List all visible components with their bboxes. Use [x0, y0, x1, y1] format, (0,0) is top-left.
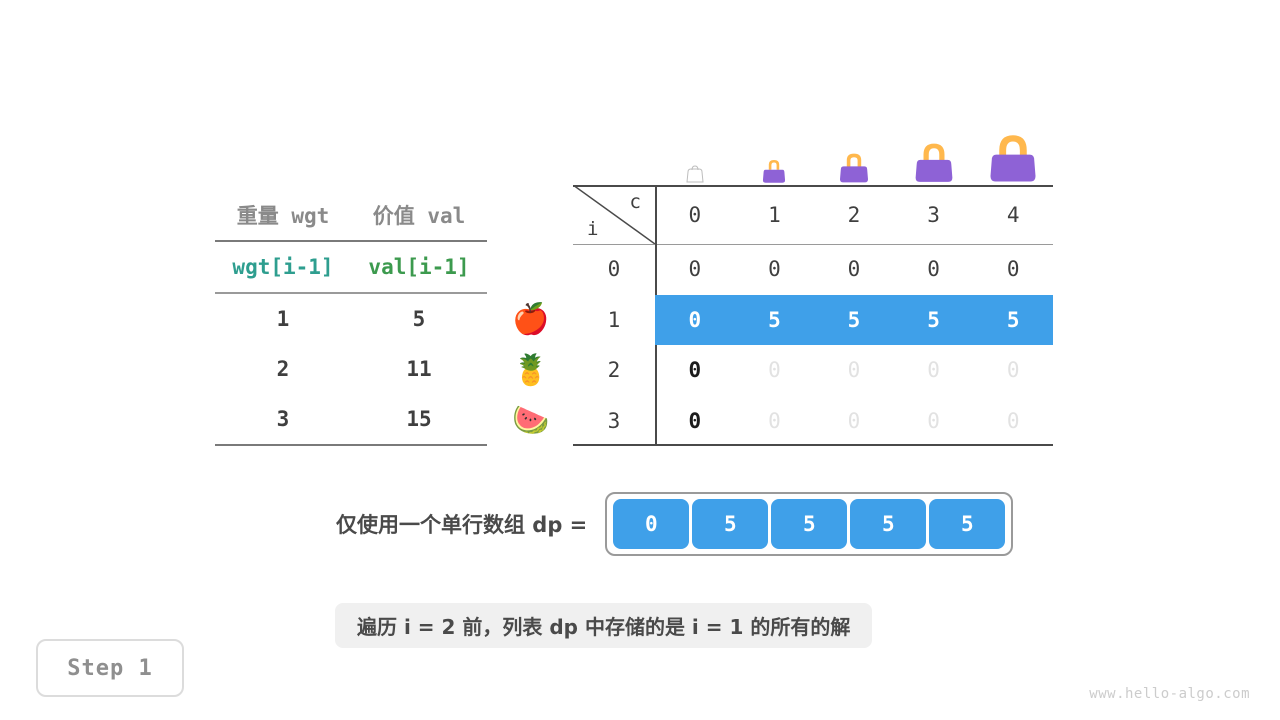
- matrix-body: 0 0 0 0 0 0 5 5 5 5 0 0 0 0 0 0 0 0 0 0: [655, 244, 1053, 446]
- item-val-1: 5: [351, 293, 487, 344]
- matrix-cell-0-1: 0: [735, 244, 815, 295]
- matrix-cell-0-4: 0: [973, 244, 1053, 295]
- table-row: 2 11: [215, 344, 487, 394]
- matrix-corner-cell: c i: [573, 185, 655, 244]
- table-row-highlighted: 0 5 5 5 5: [655, 295, 1053, 346]
- matrix-cell-1-2: 5: [814, 295, 894, 346]
- matrix-cell-1-0: 0: [655, 295, 735, 346]
- matrix-col-header-4: 4: [973, 185, 1053, 244]
- diagonal-divider-icon: [573, 185, 655, 244]
- item-table-head: 重量 wgt 价值 val: [215, 190, 487, 241]
- bag-icon-capacity-1: [759, 158, 789, 184]
- caption-text: 遍历 i = 2 前，列表 dp 中存储的是 i = 1 的所有的解: [335, 603, 872, 648]
- bag-cell-1: [735, 122, 815, 184]
- bag-capacity-icon-row: [655, 122, 1053, 184]
- matrix-corner-label-i: i: [587, 218, 598, 240]
- table-row: 0 0 0 0 0: [655, 244, 1053, 295]
- matrix-cell-0-3: 0: [894, 244, 974, 295]
- item-val-2: 11: [351, 344, 487, 394]
- matrix-cell-2-4: 0: [973, 345, 1053, 396]
- item-table-header-row: 重量 wgt 价值 val: [215, 190, 487, 241]
- matrix-col-header-3: 3: [894, 185, 974, 244]
- step-badge: Step 1: [36, 639, 184, 697]
- matrix-cell-3-3: 0: [894, 396, 974, 447]
- dp-array-container: 0 5 5 5 5: [605, 492, 1013, 556]
- fruit-slot-2: 🍍: [508, 346, 554, 397]
- item-wgt-2: 2: [215, 344, 351, 394]
- item-table-var-wgt: wgt[i-1]: [215, 241, 351, 293]
- bag-cell-2: [814, 122, 894, 184]
- matrix-col-header-0: 0: [655, 185, 735, 244]
- item-fruit-column: 🍎 🍍 🍉: [508, 295, 554, 447]
- apple-emoji: 🍎: [512, 305, 549, 335]
- bag-cell-3: [894, 122, 974, 184]
- dp-array-cell-3: 5: [850, 499, 926, 549]
- item-table-grid: 重量 wgt 价值 val wgt[i-1] val[i-1] 1 5 2 11…: [215, 190, 487, 446]
- matrix-column-header-row: 0 1 2 3 4: [655, 185, 1053, 244]
- item-table-header-wgt: 重量 wgt: [215, 190, 351, 241]
- fruit-slot-3: 🍉: [508, 396, 554, 447]
- bag-icon-capacity-2: [835, 152, 873, 184]
- matrix-row-label-1: 1: [573, 295, 655, 346]
- item-table-variable-row: wgt[i-1] val[i-1]: [215, 241, 487, 293]
- matrix-cell-3-2: 0: [814, 396, 894, 447]
- item-wgt-3: 3: [215, 394, 351, 445]
- bag-cell-0: [655, 122, 735, 184]
- bag-cell-4: [973, 122, 1053, 184]
- matrix-cell-3-1: 0: [735, 396, 815, 447]
- item-val-3: 15: [351, 394, 487, 445]
- matrix-cell-2-3: 0: [894, 345, 974, 396]
- fruit-slot-1: 🍎: [508, 295, 554, 346]
- dp-array-label: 仅使用一个单行数组 dp =: [336, 509, 587, 539]
- table-row: 3 15: [215, 394, 487, 445]
- pineapple-emoji: 🍍: [512, 356, 549, 386]
- item-table-header-val: 价值 val: [351, 190, 487, 241]
- matrix-row-label-3: 3: [573, 396, 655, 447]
- bag-icon-capacity-3: [910, 142, 958, 184]
- matrix-cell-1-1: 5: [735, 295, 815, 346]
- matrix-row-label-0: 0: [573, 244, 655, 295]
- dp-array-cell-0: 0: [613, 499, 689, 549]
- bag-icon-capacity-0: [684, 164, 706, 184]
- matrix-cell-1-4: 5: [973, 295, 1053, 346]
- matrix-cell-0-0: 0: [655, 244, 735, 295]
- bag-icon-capacity-4: [984, 134, 1042, 184]
- dp-array-section: 仅使用一个单行数组 dp = 0 5 5 5 5: [336, 492, 1013, 556]
- matrix-cell-3-0: 0: [655, 396, 735, 447]
- dp-matrix-table: c i 0 1 2 3 4 0 1 2 3 0 0 0 0 0 0 5 5 5 …: [573, 185, 1053, 445]
- matrix-cell-1-3: 5: [894, 295, 974, 346]
- item-weight-value-table: 重量 wgt 价值 val wgt[i-1] val[i-1] 1 5 2 11…: [215, 190, 487, 446]
- dp-array-cell-2: 5: [771, 499, 847, 549]
- dp-array-cell-1: 5: [692, 499, 768, 549]
- matrix-cell-2-1: 0: [735, 345, 815, 396]
- dp-array-cell-4: 5: [929, 499, 1005, 549]
- watermark: www.hello-algo.com: [1089, 686, 1250, 702]
- matrix-cell-2-2: 0: [814, 345, 894, 396]
- table-row: 0 0 0 0 0: [655, 396, 1053, 447]
- item-wgt-1: 1: [215, 293, 351, 344]
- matrix-row-label-2: 2: [573, 345, 655, 396]
- item-table-var-val: val[i-1]: [351, 241, 487, 293]
- table-row: 0 0 0 0 0: [655, 345, 1053, 396]
- matrix-cell-2-0: 0: [655, 345, 735, 396]
- matrix-col-header-2: 2: [814, 185, 894, 244]
- matrix-cell-3-4: 0: [973, 396, 1053, 447]
- matrix-cell-0-2: 0: [814, 244, 894, 295]
- matrix-corner-label-c: c: [630, 191, 641, 213]
- item-table-body: wgt[i-1] val[i-1] 1 5 2 11 3 15: [215, 241, 487, 445]
- matrix-row-label-column: 0 1 2 3: [573, 244, 655, 446]
- table-row: 1 5: [215, 293, 487, 344]
- watermelon-emoji: 🍉: [512, 406, 549, 436]
- matrix-col-header-1: 1: [735, 185, 815, 244]
